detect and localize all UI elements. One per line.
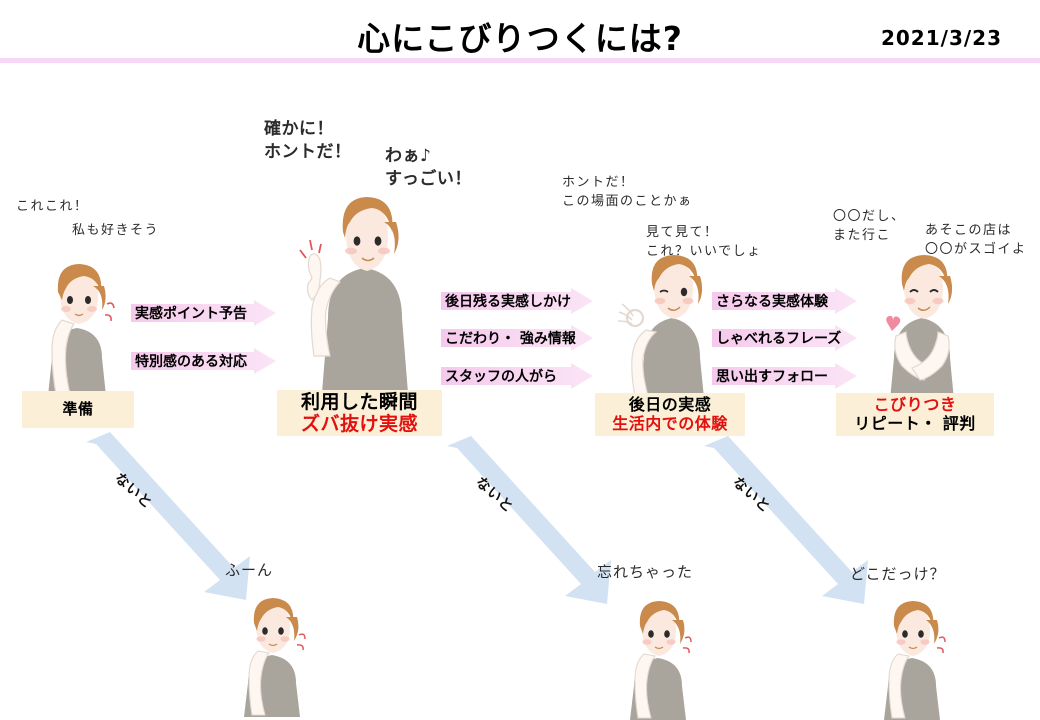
transition-arrow-later-2[interactable]: しゃべれるフレーズ xyxy=(712,325,857,351)
slide-header: 心にこびりつくには? 2021/3/23 xyxy=(0,0,1040,62)
person-fallback-1 xyxy=(222,585,322,717)
transition-arrow-label: スタッフの人がら xyxy=(441,366,557,386)
transition-arrow-moment-2[interactable]: こだわり・ 強み情報 xyxy=(441,325,593,351)
person-fallback-2 xyxy=(608,588,708,720)
person-sticking xyxy=(862,240,982,400)
transition-arrow-moment-1[interactable]: 後日残る実感しかけ xyxy=(441,288,593,314)
transition-arrow-label: 後日残る実感しかけ xyxy=(441,291,571,311)
stage-label-line2: リピート・ 評判 xyxy=(854,415,976,434)
slide-canvas: 心にこびりつくには? 2021/3/23 これこれ！ 私も好きそう 確かに！ ホ… xyxy=(0,0,1040,720)
transition-arrow-label: 特別感のある対応 xyxy=(131,351,247,371)
person-prep xyxy=(22,248,132,396)
fallback-arrow-label: ないと xyxy=(111,468,158,513)
transition-arrow-label: しゃべれるフレーズ xyxy=(712,328,841,348)
fallback-note-2: 忘れちゃった xyxy=(597,562,693,584)
transition-arrow-moment-3[interactable]: スタッフの人がら xyxy=(441,363,593,389)
transition-arrow-later-1[interactable]: さらなる実感体験 xyxy=(712,288,857,314)
stage-label-line1: 利用した瞬間 xyxy=(301,391,418,413)
fallback-arrow-label: ないと xyxy=(729,472,776,517)
transition-arrow-prep-2[interactable]: 特別感のある対応 xyxy=(131,348,276,374)
stage-label-line2: ズバ抜け実感 xyxy=(301,413,418,435)
header-divider xyxy=(0,58,1040,63)
fallback-note-1: ふーん xyxy=(225,560,273,582)
fallback-note-3: どこだっけ？ xyxy=(850,564,946,586)
transition-arrow-label: 思い出すフォロー xyxy=(712,366,828,386)
note-later-1: ホントだ！ この場面のことかぁ xyxy=(562,174,693,212)
stage-label-line1: 準備 xyxy=(62,401,93,419)
note-prep-1: これこれ！ xyxy=(16,198,89,217)
person-fallback-3 xyxy=(862,588,962,720)
fallback-arrow-label: ないと xyxy=(472,472,519,517)
person-moment xyxy=(290,178,440,393)
note-prep-2: 私も好きそう xyxy=(72,222,159,241)
transition-arrow-later-3[interactable]: 思い出すフォロー xyxy=(712,363,857,389)
stage-label-line1: 後日の実感 xyxy=(629,396,712,415)
transition-arrow-label: さらなる実感体験 xyxy=(712,291,828,311)
stage-box-later[interactable]: 後日の実感 生活内での体験 xyxy=(595,393,745,436)
transition-arrow-label: 実感ポイント予告 xyxy=(131,303,247,323)
transition-arrow-prep-1[interactable]: 実感ポイント予告 xyxy=(131,300,276,326)
stage-label-line2: 生活内での体験 xyxy=(612,415,728,434)
note-moment-1: 確かに！ ホントだ！ xyxy=(264,118,352,164)
stage-box-sticking[interactable]: こびりつき リピート・ 評判 xyxy=(836,393,994,436)
transition-arrow-label: こだわり・ 強み情報 xyxy=(441,328,576,348)
slide-date: 2021/3/23 xyxy=(881,26,1002,50)
stage-box-moment[interactable]: 利用した瞬間 ズバ抜け実感 xyxy=(277,390,442,436)
stage-box-prep[interactable]: 準備 xyxy=(22,391,134,428)
stage-label-line1: こびりつき xyxy=(874,396,957,415)
